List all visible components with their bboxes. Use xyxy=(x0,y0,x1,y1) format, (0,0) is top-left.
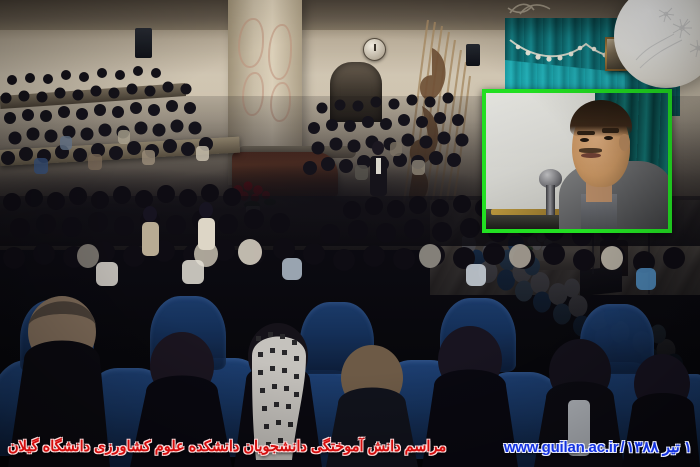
speaker-ear xyxy=(619,134,630,152)
speaker-eye xyxy=(580,138,589,142)
speaker-eyebrow xyxy=(602,128,618,132)
event-photograph: www.guilan.ac.ir/۱ تیر ۱۳۸۸ مراسم دانش آ… xyxy=(0,0,700,467)
ceiling-light-globe xyxy=(614,0,700,88)
foreground-audience xyxy=(0,260,700,467)
ceiling-light-fixture xyxy=(506,0,554,16)
microphone-body xyxy=(546,185,555,215)
speaker-eyebrow xyxy=(577,131,595,135)
speaker-inset-photo xyxy=(482,89,672,233)
